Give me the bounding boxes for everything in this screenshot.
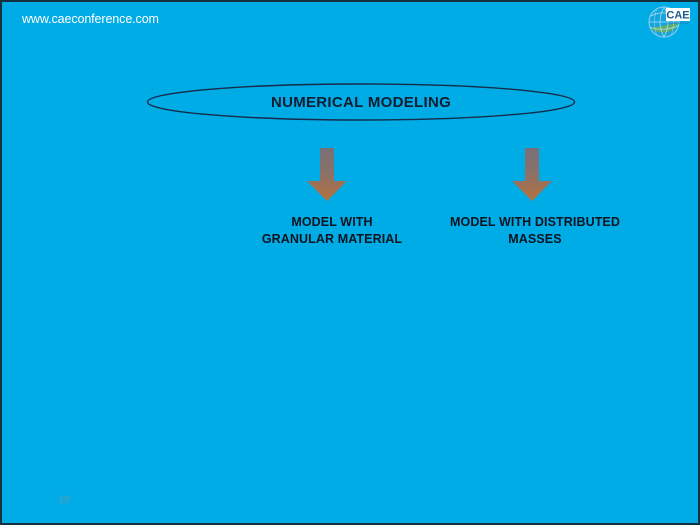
numerical-modeling-node: NUMERICAL MODELING — [146, 82, 576, 122]
granular-material-model-line2: GRANULAR MATERIAL — [232, 231, 432, 248]
slide-page-number: 10 — [58, 494, 70, 507]
distributed-masses-model-line2: MASSES — [435, 231, 635, 248]
svg-text:CONFERENCE: CONFERENCE — [667, 21, 688, 25]
cae-globe-logo: CAE CONFERENCE — [642, 4, 692, 40]
granular-material-model-line1: MODEL WITH — [232, 214, 432, 231]
presentation-slide: www.caeconference.com CAE CONFERENCE — [0, 0, 700, 525]
numerical-modeling-label: NUMERICAL MODELING — [146, 82, 576, 122]
site-url-text: www.caeconference.com — [22, 12, 159, 26]
distributed-masses-model-line1: MODEL WITH DISTRIBUTED — [435, 214, 635, 231]
granular-material-model-label: MODEL WITH GRANULAR MATERIAL — [232, 214, 432, 248]
logo-text: CAE — [666, 10, 689, 22]
arrow-to-granular-model — [305, 148, 349, 202]
arrow-to-distributed-masses-model — [510, 148, 554, 202]
distributed-masses-model-label: MODEL WITH DISTRIBUTED MASSES — [435, 214, 635, 248]
